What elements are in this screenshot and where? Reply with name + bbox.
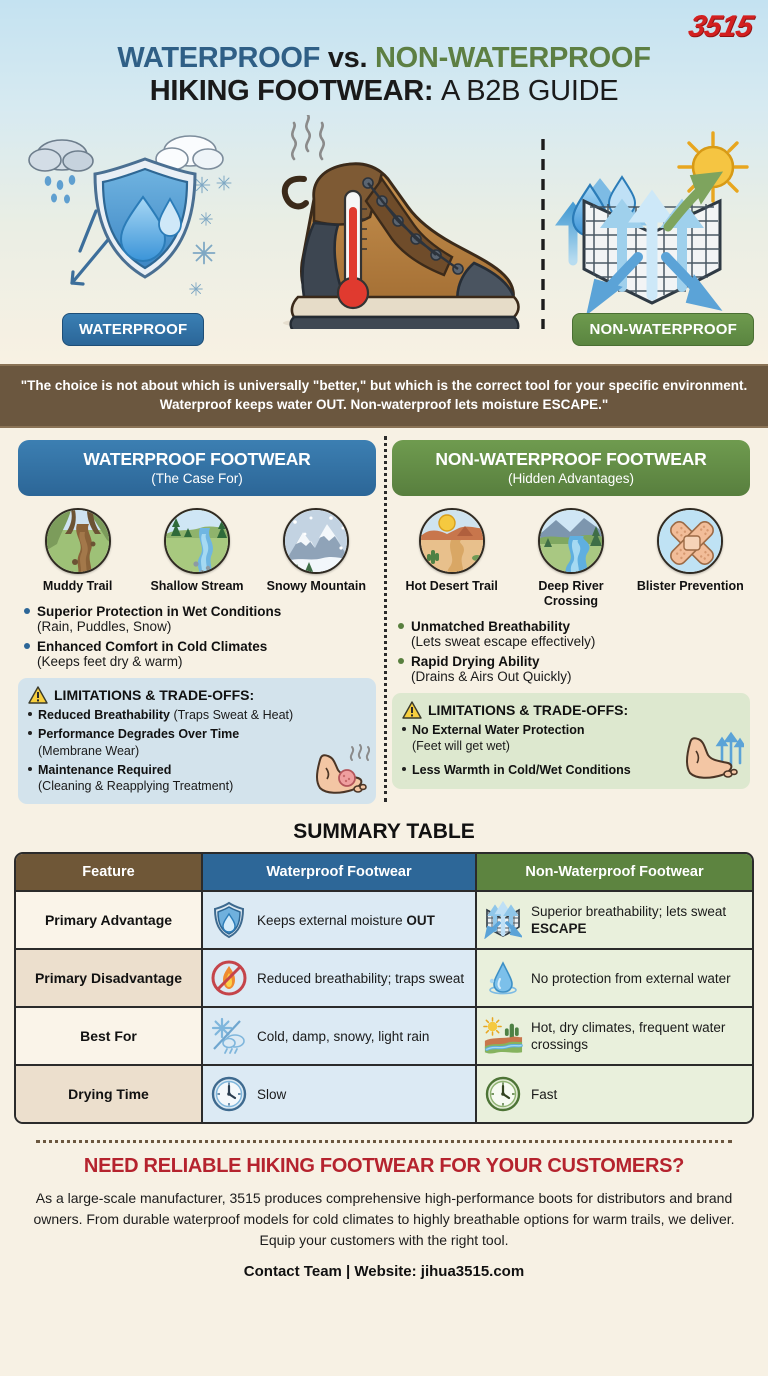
non-waterproof-subheading: (Hidden Advantages) <box>398 471 744 486</box>
benefit-item: Unmatched Breathability (Lets sweat esca… <box>398 619 750 649</box>
benefit-main: Unmatched Breathability <box>411 619 570 634</box>
benefit-item: Superior Protection in Wet Conditions (R… <box>24 604 376 634</box>
hot-desert-trail-icon <box>419 508 485 574</box>
desert-stream-icon <box>483 1016 523 1056</box>
shield-droplet-icon <box>209 900 249 940</box>
waterproof-subheading: (The Case For) <box>24 471 370 486</box>
hero-artwork <box>0 115 768 329</box>
bullet-dot <box>402 727 406 731</box>
benefit-sub: (Rain, Puddles, Snow) <box>24 619 376 634</box>
scenario-label: Blister Prevention <box>631 579 749 594</box>
row-feature-label: Best For <box>16 1007 202 1065</box>
shield-icon <box>95 159 195 277</box>
row-waterproof-cell: Reduced breathability; traps sweat <box>202 949 476 1007</box>
brand-logo: 3515 <box>686 10 756 44</box>
title-non-waterproof: NON-WATERPROOF <box>375 42 651 74</box>
limitations-header: LIMITATIONS & TRADE-OFFS: <box>28 686 366 704</box>
benefit-sub: (Keeps feet dry & warm) <box>24 654 376 669</box>
row-waterproof-text: Reduced breathability; traps sweat <box>257 970 464 987</box>
bullet-dot <box>402 767 406 771</box>
benefit-main: Rapid Drying Ability <box>411 654 540 669</box>
muddy-trail-icon <box>45 508 111 574</box>
benefit-item: Enhanced Comfort in Cold Climates (Keeps… <box>24 639 376 669</box>
blistered-foot-icon <box>306 744 370 800</box>
scenario-shallow-stream: Shallow Stream <box>138 508 256 594</box>
table-header-feature: Feature <box>16 854 202 891</box>
scenario-muddy-trail: Muddy Trail <box>19 508 137 594</box>
mesh-breathability-icon <box>483 900 523 940</box>
bullet-dot <box>24 643 30 649</box>
table-header-waterproof: Waterproof Footwear <box>202 854 476 891</box>
row-waterproof-text: Slow <box>257 1086 286 1103</box>
table-header-row: Feature Waterproof Footwear Non-Waterpro… <box>16 854 752 891</box>
hero-illustration <box>0 115 768 329</box>
scenario-label: Muddy Trail <box>19 579 137 594</box>
row-non-waterproof-text: Superior breathability; lets sweat ESCAP… <box>531 903 746 938</box>
scenario-hot-desert-trail: Hot Desert Trail <box>393 508 511 609</box>
row-non-waterproof-cell: No protection from external water <box>476 949 752 1007</box>
cta-section: NEED RELIABLE HIKING FOOTWEAR FOR YOUR C… <box>0 1124 768 1286</box>
benefit-sub: (Lets sweat escape effectively) <box>398 634 750 649</box>
waterproof-column: WATERPROOF FOOTWEAR (The Case For) <box>10 440 384 804</box>
title-waterproof: WATERPROOF <box>117 42 320 74</box>
summary-table-title: SUMMARY TABLE <box>0 820 768 844</box>
non-waterproof-limitations-box: LIMITATIONS & TRADE-OFFS: No External Wa… <box>392 693 750 789</box>
row-non-waterproof-cell: Fast <box>476 1065 752 1122</box>
scenario-label: Deep River Crossing <box>512 579 630 609</box>
rain-cloud-icon <box>29 140 93 204</box>
cta-heading: NEED RELIABLE HIKING FOOTWEAR FOR YOUR C… <box>22 1155 746 1178</box>
limitation-bold: Performance Degrades Over Time <box>38 727 239 741</box>
row-feature-label: Drying Time <box>16 1065 202 1122</box>
bullet-dot <box>398 658 404 664</box>
cta-contact[interactable]: Contact Team | Website: jihua3515.com <box>22 1263 746 1280</box>
snowy-mountain-icon <box>283 508 349 574</box>
table-row: Best For <box>16 1007 752 1065</box>
scenario-label: Shallow Stream <box>138 579 256 594</box>
snow-rain-icon <box>209 1016 249 1056</box>
table-header-non-waterproof: Non-Waterproof Footwear <box>476 854 752 891</box>
limitation-bold: No External Water Protection <box>412 723 585 737</box>
steam-icon <box>292 115 323 159</box>
waterproof-limitations-box: LIMITATIONS & TRADE-OFFS: Reduced Breath… <box>18 678 376 804</box>
waterproof-column-header: WATERPROOF FOOTWEAR (The Case For) <box>18 440 376 496</box>
benefit-item: Rapid Drying Ability (Drains & Airs Out … <box>398 654 750 684</box>
deep-river-crossing-icon <box>538 508 604 574</box>
hero-section: 3515 WATERPROOF vs. NON-WATERPROOF HIKIN… <box>0 0 768 364</box>
comparison-section: WATERPROOF FOOTWEAR (The Case For) <box>0 428 768 810</box>
title-vs: vs. <box>328 42 367 74</box>
clock-blue-icon <box>209 1074 249 1114</box>
shallow-stream-icon <box>164 508 230 574</box>
non-waterproof-benefits: Unmatched Breathability (Lets sweat esca… <box>392 619 750 684</box>
scenario-snowy-mountain: Snowy Mountain <box>257 508 375 594</box>
clock-green-icon <box>483 1074 523 1114</box>
row-waterproof-cell: Slow <box>202 1065 476 1122</box>
page-title: WATERPROOF vs. NON-WATERPROOF HIKING FOO… <box>0 0 768 109</box>
scenario-label: Snowy Mountain <box>257 579 375 594</box>
row-non-waterproof-text: No protection from external water <box>531 970 731 987</box>
quote-banner: "The choice is not about which is univer… <box>0 364 768 428</box>
limitation-bold: Less Warmth in Cold/Wet Conditions <box>412 763 631 777</box>
limitation-bold: Maintenance Required <box>38 763 171 777</box>
water-droplet-icon <box>483 958 523 998</box>
row-waterproof-cell: Cold, damp, snowy, light rain <box>202 1007 476 1065</box>
row-non-waterproof-cell: Superior breathability; lets sweat ESCAP… <box>476 891 752 949</box>
badge-non-waterproof: NON-WATERPROOF <box>572 313 754 346</box>
warning-icon <box>402 701 422 719</box>
row-feature-label: Primary Advantage <box>16 891 202 949</box>
limitation-item: Reduced Breathability (Traps Sweat & Hea… <box>28 707 366 723</box>
sun-icon <box>679 133 747 201</box>
row-waterproof-cell: Keeps external moisture OUT <box>202 891 476 949</box>
blister-prevention-icon <box>657 508 723 574</box>
scenario-label: Hot Desert Trail <box>393 579 511 594</box>
column-divider <box>384 436 387 802</box>
waterproof-scenarios: Muddy Trail <box>18 508 376 594</box>
title-hiking-footwear: HIKING FOOTWEAR: <box>150 75 434 107</box>
limitations-header: LIMITATIONS & TRADE-OFFS: <box>402 701 740 719</box>
cta-divider <box>36 1140 732 1143</box>
benefit-main: Superior Protection in Wet Conditions <box>37 604 281 619</box>
bullet-dot <box>24 608 30 614</box>
badge-waterproof: WATERPROOF <box>62 313 204 346</box>
non-waterproof-column-header: NON-WATERPROOF FOOTWEAR (Hidden Advantag… <box>392 440 750 496</box>
cta-body: As a large-scale manufacturer, 3515 prod… <box>22 1188 746 1251</box>
infographic-page: 3515 WATERPROOF vs. NON-WATERPROOF HIKIN… <box>0 0 768 1376</box>
bullet-dot <box>28 731 32 735</box>
waterproof-benefits: Superior Protection in Wet Conditions (R… <box>18 604 376 669</box>
non-waterproof-heading: NON-WATERPROOF FOOTWEAR <box>398 449 744 470</box>
bullet-dot <box>28 767 32 771</box>
limitation-normal: (Traps Sweat & Heat) <box>170 708 293 722</box>
summary-table: Feature Waterproof Footwear Non-Waterpro… <box>14 852 754 1124</box>
limitation-bold: Reduced Breathability <box>38 708 170 722</box>
snowflake-icon <box>190 176 231 295</box>
benefit-sub: (Drains & Airs Out Quickly) <box>398 669 750 684</box>
title-b2b-guide: A B2B GUIDE <box>441 75 618 107</box>
scenario-deep-river-crossing: Deep River Crossing <box>512 508 630 609</box>
warning-icon <box>28 686 48 704</box>
non-waterproof-scenarios: Hot Desert Trail De <box>392 508 750 609</box>
row-non-waterproof-text: Fast <box>531 1086 557 1103</box>
scenario-blister-prevention: Blister Prevention <box>631 508 749 609</box>
row-non-waterproof-cell: Hot, dry climates, frequent water crossi… <box>476 1007 752 1065</box>
limitations-title: LIMITATIONS & TRADE-OFFS: <box>428 702 628 718</box>
benefit-main: Enhanced Comfort in Cold Climates <box>37 639 267 654</box>
no-heat-icon <box>209 958 249 998</box>
waterproof-heading: WATERPROOF FOOTWEAR <box>24 449 370 470</box>
row-waterproof-text: Cold, damp, snowy, light rain <box>257 1028 429 1045</box>
sun <box>484 1018 501 1035</box>
row-waterproof-text: Keeps external moisture OUT <box>257 912 435 929</box>
bullet-dot <box>28 712 32 716</box>
table-row: Drying Time <box>16 1065 752 1122</box>
table-row: Primary Advantage Keeps external moistur… <box>16 891 752 949</box>
comparison-table: Feature Waterproof Footwear Non-Waterpro… <box>16 854 752 1122</box>
table-row: Primary Disadvantage R <box>16 949 752 1007</box>
breathing-foot-icon <box>680 729 744 785</box>
non-waterproof-column: NON-WATERPROOF FOOTWEAR (Hidden Advantag… <box>384 440 758 804</box>
limitations-title: LIMITATIONS & TRADE-OFFS: <box>54 687 254 703</box>
row-feature-label: Primary Disadvantage <box>16 949 202 1007</box>
bullet-dot <box>398 623 404 629</box>
row-non-waterproof-text: Hot, dry climates, frequent water crossi… <box>531 1019 746 1054</box>
